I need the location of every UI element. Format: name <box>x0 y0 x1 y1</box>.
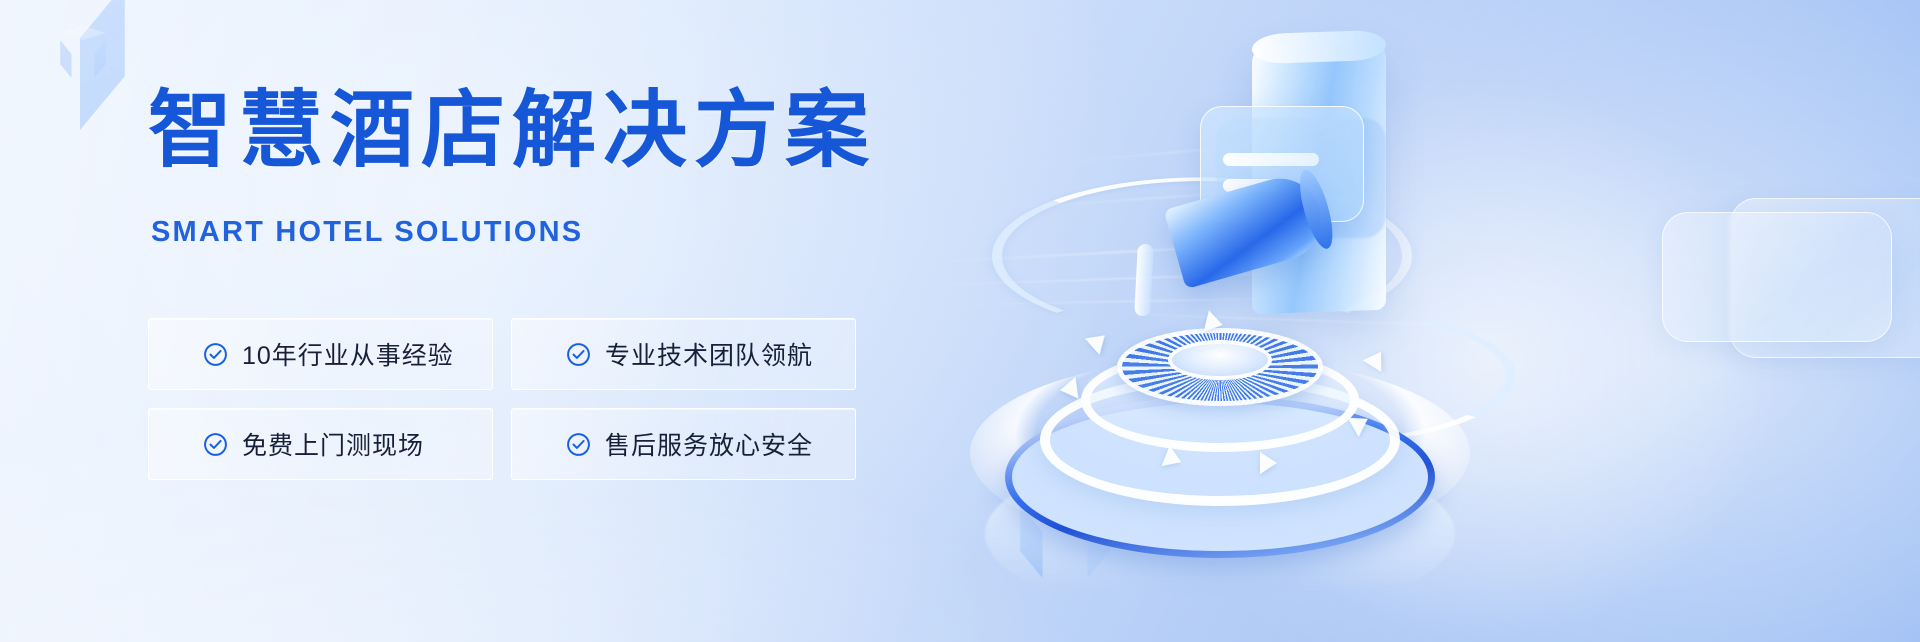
glass-panel-mid-right <box>1662 212 1892 342</box>
smart-hotel-3d-illustration <box>900 0 1920 642</box>
document-card-shadow <box>1216 118 1386 238</box>
cube-face-top <box>1020 478 1110 528</box>
feature-list: 10年行业从事经验 专业技术团队领航 免费上门测现场 <box>148 318 856 480</box>
rotation-arrow-icon <box>1348 409 1374 437</box>
platform-outer-halo <box>970 358 1470 548</box>
motion-streak <box>1020 186 1319 209</box>
turbine-platform <box>960 300 1480 620</box>
cube-face-left <box>60 26 83 78</box>
feature-item-team[interactable]: 专业技术团队领航 <box>511 318 856 390</box>
banner-content: 智慧酒店解决方案 SMART HOTEL SOLUTIONS 10年行业从事经验… <box>148 0 1008 642</box>
document-card-line-2 <box>1223 179 1279 192</box>
rotation-arrow-icon <box>1363 346 1391 372</box>
cube-face-top <box>60 26 106 52</box>
check-circle-icon <box>566 342 591 367</box>
platform-stem <box>1134 244 1154 317</box>
turbine-fins <box>1117 328 1323 406</box>
rotation-arrow-icon <box>1085 327 1112 355</box>
orbit-ring-upper <box>992 177 1412 334</box>
motion-streak <box>1060 139 1319 164</box>
feature-label: 专业技术团队领航 <box>605 336 813 372</box>
rotation-arrow-icon <box>1204 310 1226 335</box>
cube-face-left <box>1020 478 1065 578</box>
glass-cube-small-icon <box>60 26 106 78</box>
rotation-arrow-icon <box>1260 452 1277 474</box>
cube-face-right <box>35 0 125 130</box>
check-circle-icon <box>203 432 228 457</box>
document-card-line-1 <box>1223 153 1319 166</box>
ribbon-scroll-shape <box>1252 42 1386 315</box>
platform-base-glow <box>985 450 1455 618</box>
banner-title: 智慧酒店解决方案 <box>148 88 876 172</box>
turbine-core <box>1168 340 1272 380</box>
check-circle-icon <box>566 432 591 457</box>
motion-streak <box>1115 313 1535 330</box>
feature-item-after-sales[interactable]: 售后服务放心安全 <box>511 408 856 480</box>
cube-face-left <box>0 0 35 130</box>
tilted-cylinder-shape <box>1164 169 1331 289</box>
banner-subtitle: SMART HOTEL SOLUTIONS <box>151 216 583 249</box>
cube-face-right <box>83 26 106 78</box>
feature-item-free-survey[interactable]: 免费上门测现场 <box>148 408 493 480</box>
motion-streak <box>960 297 1340 306</box>
cube-face-top <box>0 0 125 30</box>
feature-item-experience[interactable]: 10年行业从事经验 <box>148 318 493 390</box>
glass-cube-top-left-icon <box>0 0 125 130</box>
platform-white-ring-outer <box>1040 374 1400 506</box>
glass-panel-far-right <box>1730 198 1920 358</box>
orbit-ring-lower <box>1090 299 1542 454</box>
platform-blue-ring <box>1005 396 1435 558</box>
platform-white-ring-inner <box>1081 348 1359 452</box>
glass-cube-bottom-icon <box>1020 478 1110 578</box>
rotation-arrow-icon <box>1161 446 1185 473</box>
rotation-arrow-icon <box>1059 377 1079 401</box>
feature-label: 免费上门测现场 <box>242 426 424 462</box>
feature-label: 售后服务放心安全 <box>605 426 813 462</box>
smart-hotel-banner: 智慧酒店解决方案 SMART HOTEL SOLUTIONS 10年行业从事经验… <box>0 0 1920 642</box>
check-circle-icon <box>203 342 228 367</box>
document-card-icon <box>1200 106 1364 222</box>
cube-face-right <box>1065 478 1110 578</box>
feature-label: 10年行业从事经验 <box>242 336 454 372</box>
